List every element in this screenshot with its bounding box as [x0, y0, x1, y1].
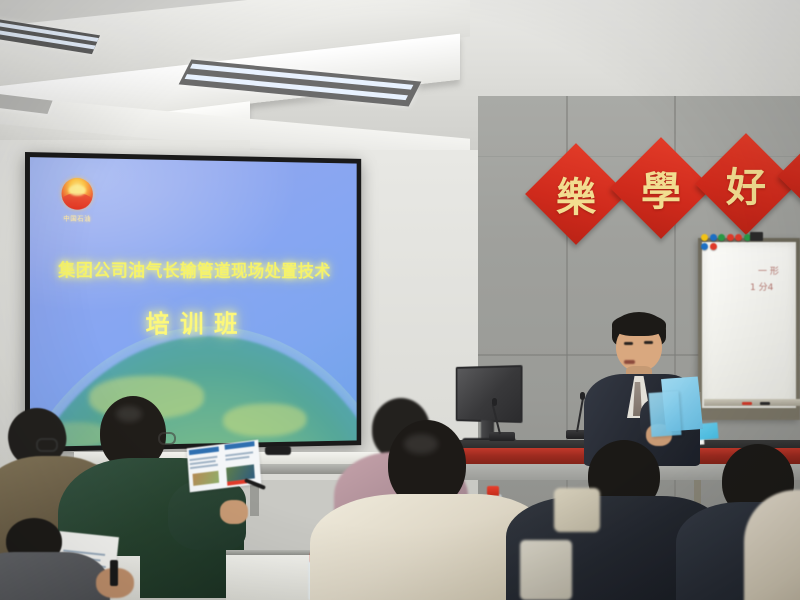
whiteboard-note-line-2: 1 分4 [750, 280, 773, 293]
whiteboard-surface: 一 形 1 分4 [702, 242, 796, 408]
petrochina-logo: 中国石油 [55, 178, 100, 223]
slide-title: 集团公司油气长输管道现场处置技术 [30, 257, 357, 283]
whiteboard-marker-tray [704, 399, 800, 406]
banner-character-4 [790, 146, 800, 206]
ballpoint-pen [110, 560, 118, 586]
eyeglasses-icon [36, 438, 58, 452]
attendee-grey-jacket [0, 524, 110, 600]
seminar-room-photo: 樂 學 好 一 形 1 分4 [0, 0, 800, 600]
chair-back [520, 540, 572, 600]
presenter-eye-left [624, 342, 633, 345]
whiteboard-marker-black[interactable] [760, 402, 770, 406]
banner-diamond-1: 樂 [525, 143, 627, 245]
hair-highlight [404, 434, 438, 454]
attendee-torso [0, 552, 110, 600]
banner-character-3: 好 [710, 148, 782, 220]
banner-character-1: 樂 [540, 158, 612, 230]
hair-highlight [116, 406, 142, 422]
whiteboard-magnets[interactable] [701, 234, 757, 250]
presenter-mouth [624, 360, 635, 364]
attendee-hand [220, 500, 248, 524]
petrochina-sun-icon [62, 178, 93, 210]
presenter-handout-papers-2 [649, 391, 682, 437]
banner-character-2: 學 [625, 152, 697, 224]
whiteboard-marker-red[interactable] [742, 402, 752, 406]
desk-object-dark [265, 446, 291, 455]
whiteboard-clip[interactable] [750, 232, 763, 241]
presenter-eye-right [644, 341, 653, 344]
microphone-head [492, 398, 497, 406]
slide-subtitle: 培训班 [30, 305, 357, 341]
whiteboard: 一 形 1 分4 [698, 238, 800, 420]
banner-diamond-3: 好 [695, 133, 797, 235]
eyeglasses-icon [158, 432, 176, 445]
attendee-torso [744, 490, 800, 600]
chair-back [554, 488, 600, 532]
banner-diamond-2: 學 [610, 137, 712, 239]
presenter-hair-front [612, 314, 666, 336]
petrochina-logo-text: 中国石油 [55, 212, 100, 222]
attendee-beige-far-right [744, 490, 800, 600]
whiteboard-note-line-1: 一 形 [758, 264, 779, 277]
